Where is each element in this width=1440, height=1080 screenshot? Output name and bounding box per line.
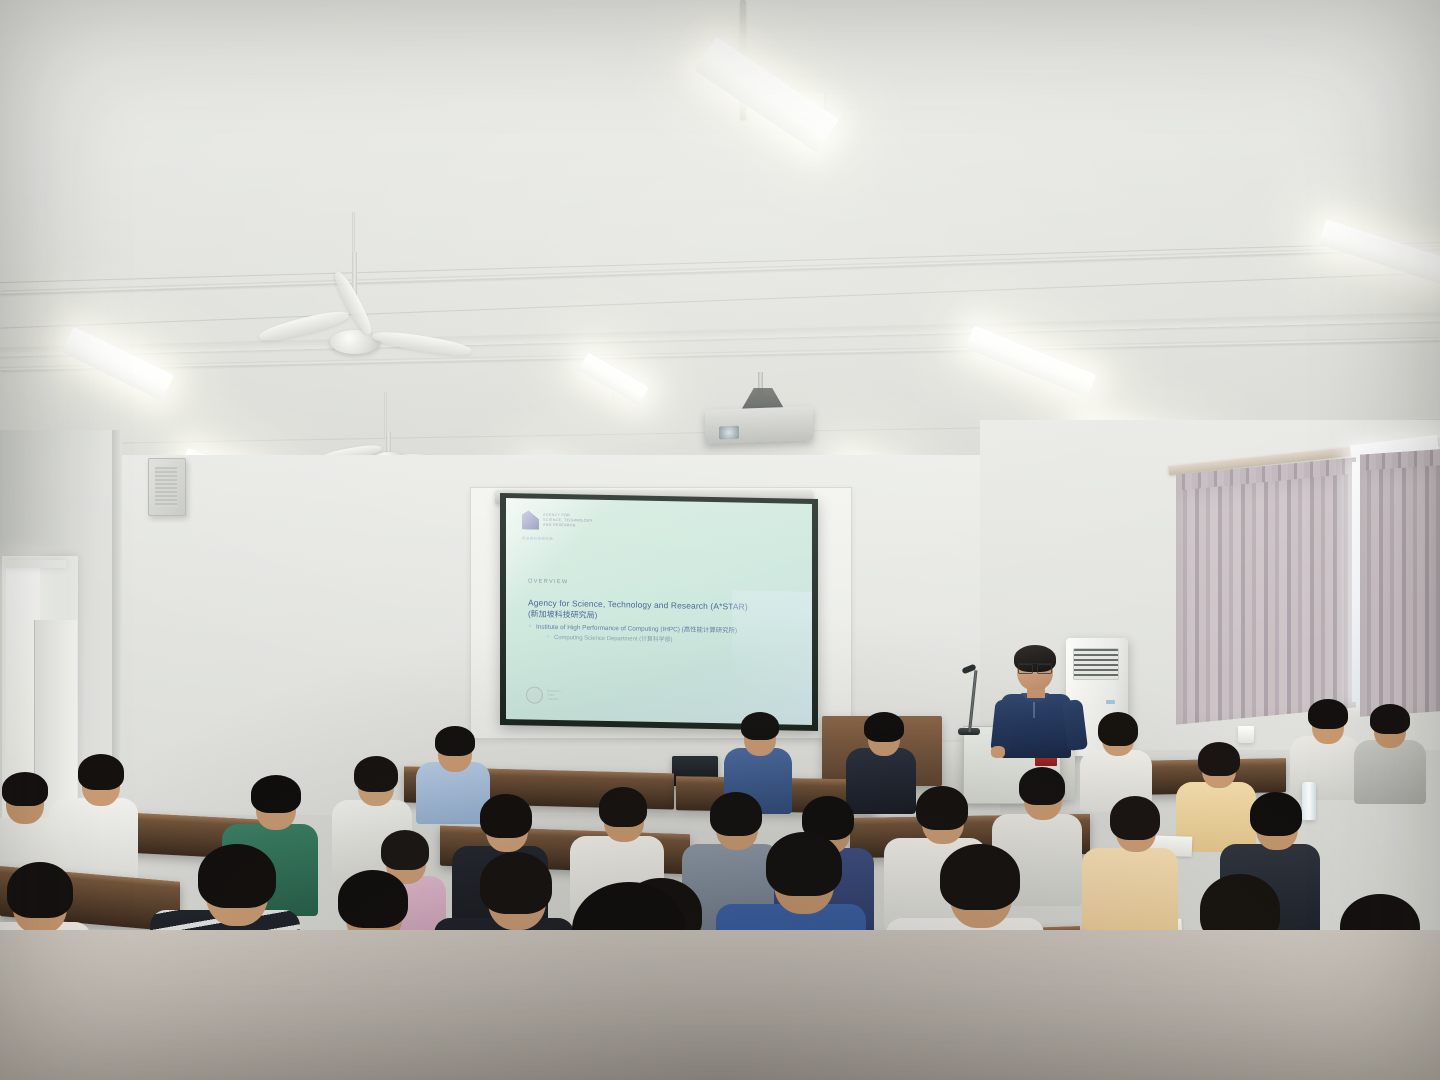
slide-surface: AGENCY FOR SCIENCE, TECHNOLOGY AND RESEA… — [506, 498, 812, 725]
a-star-logo-mark — [522, 510, 539, 529]
slide-bullet-list: Institute of High Performance of Computi… — [528, 623, 796, 647]
water-bottle[interactable] — [1302, 782, 1316, 820]
footer-logo-line-3: Transfer — [547, 698, 561, 701]
wall-speaker — [148, 458, 186, 516]
presenter-shirt-placket — [1033, 702, 1035, 718]
lecture-hall-photo: AGENCY FOR SCIENCE, TECHNOLOGY AND RESEA… — [0, 0, 1440, 1080]
slide-footer-logo: Research Think Transfer — [526, 686, 561, 704]
speaker-grill — [155, 467, 177, 507]
slide-eyebrow: OVERVIEW — [528, 578, 796, 589]
ac-display-led — [1106, 700, 1115, 704]
logo-chinese-subtitle: 新加坡科技研究局 — [522, 535, 553, 541]
window-curtain[interactable] — [1176, 457, 1356, 724]
slide-sub-bullet-list: Computing Science Department (计算科学部) — [546, 634, 796, 647]
slide-org-logo: AGENCY FOR SCIENCE, TECHNOLOGY AND RESEA… — [522, 510, 593, 530]
logo-line-3: AND RESEARCH — [543, 524, 593, 529]
footer-logo-mark — [526, 686, 543, 703]
presenter — [995, 648, 1081, 758]
presenter-hand — [991, 746, 1005, 758]
slide-bullet: Institute of High Performance of Computi… — [528, 623, 796, 647]
window-curtain[interactable] — [1360, 449, 1440, 717]
projection-screen[interactable]: AGENCY FOR SCIENCE, TECHNOLOGY AND RESEA… — [500, 493, 818, 731]
slide-content: OVERVIEW Agency for Science, Technology … — [528, 578, 796, 647]
presenter-glasses — [1018, 663, 1052, 672]
slide-sub-bullet: Computing Science Department (计算科学部) — [546, 634, 796, 647]
projector-lens — [719, 426, 739, 440]
paper-cup[interactable] — [1238, 726, 1254, 743]
floor — [0, 930, 1440, 1080]
